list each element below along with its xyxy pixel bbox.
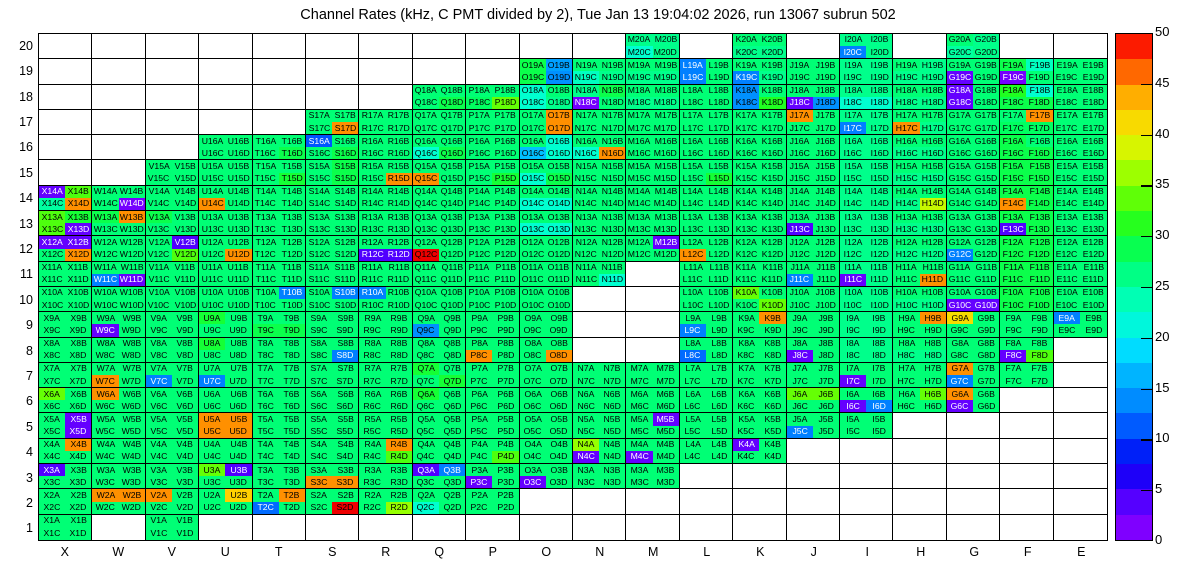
sub-channel-V1D: V1D: [172, 527, 198, 540]
sub-channel-N11B: N11B: [599, 262, 625, 274]
heatmap-cell-X15: [39, 160, 92, 185]
sub-channel-V11C: V11C: [146, 274, 172, 286]
sub-channel-K5C: K5C: [733, 426, 759, 438]
sub-channel-W11B: W11B: [119, 262, 145, 274]
sub-channel-Q8B: Q8B: [439, 338, 465, 350]
heatmap-cell-S14: S14AS14BS14CS14D: [306, 186, 359, 211]
sub-channel-I7A: I7A: [840, 363, 866, 375]
sub-channel-K10C: K10C: [733, 299, 759, 311]
sub-channel-I18A: I18A: [840, 85, 866, 97]
sub-channel-V5D: V5D: [172, 426, 198, 438]
heatmap-cell-X12: X12AX12BX12CX12D: [39, 236, 92, 261]
x-tick-S: S: [312, 545, 352, 559]
sub-channel-V8B: V8B: [172, 338, 198, 350]
sub-channel-E10A: E10A: [1054, 287, 1081, 299]
sub-channel-G6C: G6C: [947, 400, 973, 412]
y-tick-17: 17: [3, 115, 33, 129]
heatmap-cell-T15: T15AT15BT15CT15D: [253, 160, 306, 185]
sub-channel-G15D: G15D: [973, 173, 999, 185]
sub-channel-K9C: K9C: [733, 324, 759, 336]
sub-channel-O16B: O16B: [546, 135, 572, 147]
sub-channel-L8C: L8C: [680, 350, 706, 362]
y-tick-4: 4: [3, 445, 33, 459]
sub-channel-J5D: J5D: [813, 426, 839, 438]
heatmap-cell-I5: I5AI5BI5CI5D: [840, 413, 893, 438]
sub-channel-X4B: X4B: [65, 439, 91, 451]
sub-channel-F16C: F16C: [1000, 147, 1026, 159]
sub-channel-W12D: W12D: [119, 249, 145, 261]
sub-channel-V12D: V12D: [172, 249, 198, 261]
sub-channel-O13C: O13C: [520, 223, 546, 235]
heatmap-cell-S20: [306, 34, 359, 59]
sub-channel-G13D: G13D: [973, 223, 999, 235]
sub-channel-O4C: O4C: [520, 451, 546, 463]
sub-channel-U13B: U13B: [225, 211, 251, 223]
sub-channel-V3B: V3B: [172, 464, 198, 476]
sub-channel-P6C: P6C: [466, 400, 492, 412]
sub-channel-S2A: S2A: [306, 489, 332, 501]
heatmap-cell-O14: O14AO14BO14CO14D: [520, 186, 573, 211]
sub-channel-S7B: S7B: [332, 363, 358, 375]
sub-channel-F14D: F14D: [1026, 198, 1052, 210]
heatmap-cell-U15: U15AU15BU15CU15D: [199, 160, 252, 185]
sub-channel-F9B: F9B: [1026, 312, 1052, 324]
sub-channel-E17C: E17C: [1054, 122, 1081, 134]
sub-channel-H10B: H10B: [920, 287, 946, 299]
sub-channel-G10A: G10A: [947, 287, 973, 299]
sub-channel-O12B: O12B: [546, 236, 572, 248]
sub-channel-H8B: H8B: [920, 338, 946, 350]
sub-channel-T16C: T16C: [253, 147, 279, 159]
sub-channel-X8A: X8A: [39, 338, 65, 350]
sub-channel-P13A: P13A: [466, 211, 492, 223]
sub-channel-P6B: P6B: [492, 388, 518, 400]
sub-channel-J6C: J6C: [787, 400, 813, 412]
sub-channel-U15D: U15D: [225, 173, 251, 185]
sub-channel-X6B: X6B: [65, 388, 91, 400]
sub-channel-R15C: R15C: [359, 173, 385, 185]
sub-channel-X5D: X5D: [65, 426, 91, 438]
sub-channel-W11A: W11A: [92, 262, 118, 274]
sub-channel-P5A: P5A: [466, 413, 492, 425]
sub-channel-W8D: W8D: [119, 350, 145, 362]
sub-channel-P14B: P14B: [492, 186, 518, 198]
sub-channel-J7B: J7B: [813, 363, 839, 375]
sub-channel-H11A: H11A: [893, 262, 919, 274]
sub-channel-T10D: T10D: [279, 299, 305, 311]
sub-channel-K4B: K4B: [759, 439, 785, 451]
sub-channel-J10D: J10D: [813, 299, 839, 311]
sub-channel-O8C: O8C: [520, 350, 546, 362]
sub-channel-Q3A: Q3A: [413, 464, 439, 476]
heatmap-cell-K16: K16AK16BK16CK16D: [733, 135, 786, 160]
sub-channel-T3C: T3C: [253, 476, 279, 488]
sub-channel-F8D: F8D: [1026, 350, 1052, 362]
sub-channel-Q13A: Q13A: [413, 211, 439, 223]
sub-channel-K20A: K20A: [733, 34, 759, 46]
sub-channel-N5A: N5A: [573, 413, 599, 425]
sub-channel-K6D: K6D: [759, 400, 785, 412]
sub-channel-H19C: H19C: [893, 71, 919, 83]
sub-channel-N13D: N13D: [599, 223, 625, 235]
sub-channel-U16B: U16B: [225, 135, 251, 147]
sub-channel-S3A: S3A: [306, 464, 332, 476]
sub-channel-T10A: T10A: [253, 287, 279, 299]
sub-channel-J13A: J13A: [787, 211, 813, 223]
sub-channel-O14D: O14D: [546, 198, 572, 210]
sub-channel-E15C: E15C: [1054, 173, 1081, 185]
sub-channel-F11B: F11B: [1026, 262, 1052, 274]
sub-channel-Q16D: Q16D: [439, 147, 465, 159]
sub-channel-P12A: P12A: [466, 236, 492, 248]
heatmap-cell-G15: G15AG15BG15CG15D: [947, 160, 1000, 185]
heatmap-cell-V12: V12AV12BV12CV12D: [146, 236, 199, 261]
sub-channel-J12B: J12B: [813, 236, 839, 248]
sub-channel-X10C: X10C: [39, 299, 65, 311]
sub-channel-H16C: H16C: [893, 147, 919, 159]
sub-channel-U10D: U10D: [225, 299, 251, 311]
sub-channel-L14A: L14A: [680, 186, 706, 198]
sub-channel-K15D: K15D: [759, 173, 785, 185]
sub-channel-M6A: M6A: [626, 388, 652, 400]
sub-channel-O5D: O5D: [546, 426, 572, 438]
sub-channel-L12C: L12C: [680, 249, 706, 261]
sub-channel-H9D: H9D: [920, 324, 946, 336]
sub-channel-T10B: T10B: [279, 287, 305, 299]
sub-channel-G9A: G9A: [947, 312, 973, 324]
sub-channel-S8A: S8A: [306, 338, 332, 350]
sub-channel-M14C: M14C: [626, 198, 652, 210]
sub-channel-U8B: U8B: [225, 338, 251, 350]
heatmap-cell-R14: R14AR14BR14CR14D: [359, 186, 412, 211]
heatmap-cell-J18: J18AJ18BJ18CJ18D: [787, 85, 840, 110]
sub-channel-Q9C: Q9C: [413, 324, 439, 336]
colorbar-tickmark: [1141, 287, 1153, 288]
heatmap-cell-K5: K5AK5BK5CK5D: [733, 413, 786, 438]
heatmap-cell-U3: U3AU3BU3CU3D: [199, 464, 252, 489]
sub-channel-M7B: M7B: [653, 363, 679, 375]
sub-channel-R9B: R9B: [386, 312, 412, 324]
sub-channel-F14A: F14A: [1000, 186, 1026, 198]
colorbar-tick-45: 45: [1155, 76, 1169, 89]
heatmap-cell-P16: P16AP16BP16CP16D: [466, 135, 519, 160]
sub-channel-I8C: I8C: [840, 350, 866, 362]
heatmap-cell-P7: P7AP7BP7CP7D: [466, 363, 519, 388]
sub-channel-R8B: R8B: [386, 338, 412, 350]
sub-channel-S4B: S4B: [332, 439, 358, 451]
sub-channel-N3B: N3B: [599, 464, 625, 476]
heatmap-cell-P17: P17AP17BP17CP17D: [466, 110, 519, 135]
sub-channel-R9C: R9C: [359, 324, 385, 336]
heatmap-cell-J15: J15AJ15BJ15CJ15D: [787, 160, 840, 185]
sub-channel-L14D: L14D: [706, 198, 732, 210]
sub-channel-Q8C: Q8C: [413, 350, 439, 362]
sub-channel-X1A: X1A: [39, 515, 65, 528]
sub-channel-J19C: J19C: [787, 71, 813, 83]
sub-channel-Q3B: Q3B: [439, 464, 465, 476]
heatmap-cell-E17: E17AE17BE17CE17D: [1054, 110, 1107, 135]
sub-channel-E9B: E9B: [1080, 312, 1107, 324]
sub-channel-W2D: W2D: [119, 502, 145, 514]
sub-channel-M15C: M15C: [626, 173, 652, 185]
sub-channel-O11D: O11D: [546, 274, 572, 286]
sub-channel-T5B: T5B: [279, 413, 305, 425]
sub-channel-F16B: F16B: [1026, 135, 1052, 147]
sub-channel-H14D: H14D: [920, 198, 946, 210]
sub-channel-J10A: J10A: [787, 287, 813, 299]
x-tick-O: O: [526, 545, 566, 559]
sub-channel-S5A: S5A: [306, 413, 332, 425]
heatmap-cell-H4: [893, 439, 946, 464]
heatmap-cell-T17: [253, 110, 306, 135]
sub-channel-U13D: U13D: [225, 223, 251, 235]
sub-channel-J10B: J10B: [813, 287, 839, 299]
sub-channel-P4B: P4B: [492, 439, 518, 451]
sub-channel-M17A: M17A: [626, 110, 652, 122]
heatmap-cell-O13: O13AO13BO13CO13D: [520, 211, 573, 236]
sub-channel-W8C: W8C: [92, 350, 118, 362]
sub-channel-L4D: L4D: [706, 451, 732, 463]
x-tick-H: H: [901, 545, 941, 559]
heatmap-cell-S4: S4AS4BS4CS4D: [306, 439, 359, 464]
sub-channel-L16A: L16A: [680, 135, 706, 147]
sub-channel-J17B: J17B: [813, 110, 839, 122]
heatmap-cell-O8: O8AO8BO8CO8D: [520, 338, 573, 363]
sub-channel-L13B: L13B: [706, 211, 732, 223]
heatmap-cell-V13: V13AV13BV13CV13D: [146, 211, 199, 236]
sub-channel-S5B: S5B: [332, 413, 358, 425]
sub-channel-L19D: L19D: [706, 71, 732, 83]
sub-channel-J19B: J19B: [813, 59, 839, 71]
sub-channel-J19D: J19D: [813, 71, 839, 83]
heatmap-cell-W12: W12AW12BW12CW12D: [92, 236, 145, 261]
sub-channel-X8D: X8D: [65, 350, 91, 362]
sub-channel-G17B: G17B: [973, 110, 999, 122]
sub-channel-V14A: V14A: [146, 186, 172, 198]
heatmap-cell-O2: [520, 489, 573, 514]
sub-channel-O14B: O14B: [546, 186, 572, 198]
heatmap-cell-S10: S10AS10BS10CS10D: [306, 287, 359, 312]
sub-channel-F19A: F19A: [1000, 59, 1026, 71]
sub-channel-U9D: U9D: [225, 324, 251, 336]
sub-channel-O9A: O9A: [520, 312, 546, 324]
y-tick-13: 13: [3, 217, 33, 231]
sub-channel-P4A: P4A: [466, 439, 492, 451]
heatmap-cell-P12: P12AP12BP12CP12D: [466, 236, 519, 261]
sub-channel-I13C: I13C: [840, 223, 866, 235]
sub-channel-P17C: P17C: [466, 122, 492, 134]
heatmap-cell-R11: R11AR11BR11CR11D: [359, 262, 412, 287]
sub-channel-O11C: O11C: [520, 274, 546, 286]
sub-channel-M15D: M15D: [653, 173, 679, 185]
sub-channel-G9B: G9B: [973, 312, 999, 324]
sub-channel-U11D: U11D: [225, 274, 251, 286]
sub-channel-X12B: X12B: [65, 236, 91, 248]
sub-channel-K4D: K4D: [759, 451, 785, 463]
sub-channel-E15D: E15D: [1080, 173, 1107, 185]
sub-channel-W14B: W14B: [119, 186, 145, 198]
sub-channel-P10B: P10B: [492, 287, 518, 299]
sub-channel-W10D: W10D: [119, 299, 145, 311]
sub-channel-H17D: H17D: [920, 122, 946, 134]
sub-channel-H15A: H15A: [893, 160, 919, 172]
sub-channel-M18D: M18D: [653, 97, 679, 109]
sub-channel-T3A: T3A: [253, 464, 279, 476]
sub-channel-S10A: S10A: [306, 287, 332, 299]
sub-channel-J14B: J14B: [813, 186, 839, 198]
sub-channel-O19B: O19B: [546, 59, 572, 71]
sub-channel-W7D: W7D: [119, 375, 145, 387]
sub-channel-N14A: N14A: [573, 186, 599, 198]
sub-channel-K19D: K19D: [759, 71, 785, 83]
sub-channel-Q7C: Q7C: [413, 375, 439, 387]
heatmap-cell-X17: [39, 110, 92, 135]
sub-channel-T14D: T14D: [279, 198, 305, 210]
sub-channel-U9A: U9A: [199, 312, 225, 324]
sub-channel-L16D: L16D: [706, 147, 732, 159]
sub-channel-R13B: R13B: [386, 211, 412, 223]
heatmap-cell-L13: L13AL13BL13CL13D: [680, 211, 733, 236]
sub-channel-E9D: E9D: [1080, 324, 1107, 336]
sub-channel-W12A: W12A: [92, 236, 118, 248]
sub-channel-E12C: E12C: [1054, 249, 1081, 261]
heatmap-cell-L15: L15AL15BL15CL15D: [680, 160, 733, 185]
heatmap-cell-R16: R16AR16BR16CR16D: [359, 135, 412, 160]
sub-channel-G17C: G17C: [947, 122, 973, 134]
sub-channel-K17C: K17C: [733, 122, 759, 134]
sub-channel-S6D: S6D: [332, 400, 358, 412]
sub-channel-T16D: T16D: [279, 147, 305, 159]
sub-channel-N11A: N11A: [573, 262, 599, 274]
sub-channel-O10C: O10C: [520, 299, 546, 311]
sub-channel-H14B: H14B: [920, 186, 946, 198]
heatmap-cell-E15: E15AE15BE15CE15D: [1054, 160, 1107, 185]
sub-channel-W3C: W3C: [92, 476, 118, 488]
heatmap-cell-F1: [1000, 515, 1053, 540]
heatmap-cell-V4: V4AV4BV4CV4D: [146, 439, 199, 464]
sub-channel-P14C: P14C: [466, 198, 492, 210]
heatmap-cell-K1: [733, 515, 786, 540]
sub-channel-I9D: I9D: [866, 324, 892, 336]
heatmap-cell-S8: S8AS8BS8CS8D: [306, 338, 359, 363]
sub-channel-P16A: P16A: [466, 135, 492, 147]
sub-channel-P8B: P8B: [492, 338, 518, 350]
sub-channel-R7A: R7A: [359, 363, 385, 375]
sub-channel-T15B: T15B: [279, 160, 305, 172]
sub-channel-O4A: O4A: [520, 439, 546, 451]
sub-channel-G19C: G19C: [947, 71, 973, 83]
x-tick-M: M: [633, 545, 673, 559]
heatmap-cell-U5: U5AU5BU5CU5D: [199, 413, 252, 438]
sub-channel-I17D: I17D: [866, 122, 892, 134]
sub-channel-H15B: H15B: [920, 160, 946, 172]
sub-channel-T9A: T9A: [253, 312, 279, 324]
sub-channel-F19D: F19D: [1026, 71, 1052, 83]
sub-channel-T4B: T4B: [279, 439, 305, 451]
sub-channel-N6C: N6C: [573, 400, 599, 412]
heatmap-cell-R17: R17AR17BR17CR17D: [359, 110, 412, 135]
sub-channel-R9D: R9D: [386, 324, 412, 336]
heatmap-cell-E19: E19AE19BE19CE19D: [1054, 59, 1107, 84]
sub-channel-R13C: R13C: [359, 223, 385, 235]
sub-channel-R17C: R17C: [359, 122, 385, 134]
heatmap-cell-R8: R8AR8BR8CR8D: [359, 338, 412, 363]
heatmap-cell-K7: K7AK7BK7CK7D: [733, 363, 786, 388]
sub-channel-V7B: V7B: [172, 363, 198, 375]
sub-channel-L16B: L16B: [706, 135, 732, 147]
sub-channel-G10B: G10B: [973, 287, 999, 299]
sub-channel-S10B: S10B: [332, 287, 358, 299]
sub-channel-T15A: T15A: [253, 160, 279, 172]
sub-channel-V5B: V5B: [172, 413, 198, 425]
sub-channel-H13D: H13D: [920, 223, 946, 235]
heatmap-cell-O9: O9AO9BO9CO9D: [520, 312, 573, 337]
sub-channel-T12C: T12C: [253, 249, 279, 261]
heatmap-cell-G17: G17AG17BG17CG17D: [947, 110, 1000, 135]
sub-channel-U12A: U12A: [199, 236, 225, 248]
sub-channel-T13D: T13D: [279, 223, 305, 235]
sub-channel-K20C: K20C: [733, 46, 759, 58]
sub-channel-S14B: S14B: [332, 186, 358, 198]
sub-channel-N12C: N12C: [573, 249, 599, 261]
heatmap-cell-E20: [1054, 34, 1107, 59]
y-tick-11: 11: [3, 267, 33, 281]
sub-channel-G7B: G7B: [973, 363, 999, 375]
sub-channel-I20D: I20D: [866, 46, 892, 58]
sub-channel-V5C: V5C: [146, 426, 172, 438]
sub-channel-H13B: H13B: [920, 211, 946, 223]
sub-channel-E14A: E14A: [1054, 186, 1081, 198]
sub-channel-O3A: O3A: [520, 464, 546, 476]
sub-channel-K8B: K8B: [759, 338, 785, 350]
sub-channel-G14A: G14A: [947, 186, 973, 198]
heatmap-cell-W3: W3AW3BW3CW3D: [92, 464, 145, 489]
sub-channel-W4C: W4C: [92, 451, 118, 463]
x-tick-V: V: [152, 545, 192, 559]
sub-channel-H6D: H6D: [920, 400, 946, 412]
sub-channel-K12A: K12A: [733, 236, 759, 248]
sub-channel-N15A: N15A: [573, 160, 599, 172]
sub-channel-J11C: J11C: [787, 274, 813, 286]
sub-channel-G18B: G18B: [973, 85, 999, 97]
sub-channel-U7D: U7D: [225, 375, 251, 387]
sub-channel-X2C: X2C: [39, 502, 65, 514]
sub-channel-S7C: S7C: [306, 375, 332, 387]
heatmap-cell-L14: L14AL14BL14CL14D: [680, 186, 733, 211]
sub-channel-S8B: S8B: [332, 338, 358, 350]
sub-channel-H7B: H7B: [920, 363, 946, 375]
sub-channel-G9C: G9C: [947, 324, 973, 336]
heatmap-cell-N12: N12AN12BN12CN12D: [573, 236, 626, 261]
sub-channel-T9B: T9B: [279, 312, 305, 324]
sub-channel-N17A: N17A: [573, 110, 599, 122]
sub-channel-H7A: H7A: [893, 363, 919, 375]
sub-channel-F8B: F8B: [1026, 338, 1052, 350]
heatmap-cell-U11: U11AU11BU11CU11D: [199, 262, 252, 287]
sub-channel-G8C: G8C: [947, 350, 973, 362]
sub-channel-S9C: S9C: [306, 324, 332, 336]
heatmap-cell-F9: F9AF9BF9CF9D: [1000, 312, 1053, 337]
sub-channel-Q15B: Q15B: [439, 160, 465, 172]
sub-channel-T13A: T13A: [253, 211, 279, 223]
heatmap-cell-V9: V9AV9BV9CV9D: [146, 312, 199, 337]
sub-channel-T14C: T14C: [253, 198, 279, 210]
sub-channel-T8D: T8D: [279, 350, 305, 362]
sub-channel-O15C: O15C: [520, 173, 546, 185]
sub-channel-O3D: O3D: [546, 476, 572, 488]
sub-channel-U8C: U8C: [199, 350, 225, 362]
heatmap-cell-V1: V1AV1BV1CV1D: [146, 515, 199, 540]
